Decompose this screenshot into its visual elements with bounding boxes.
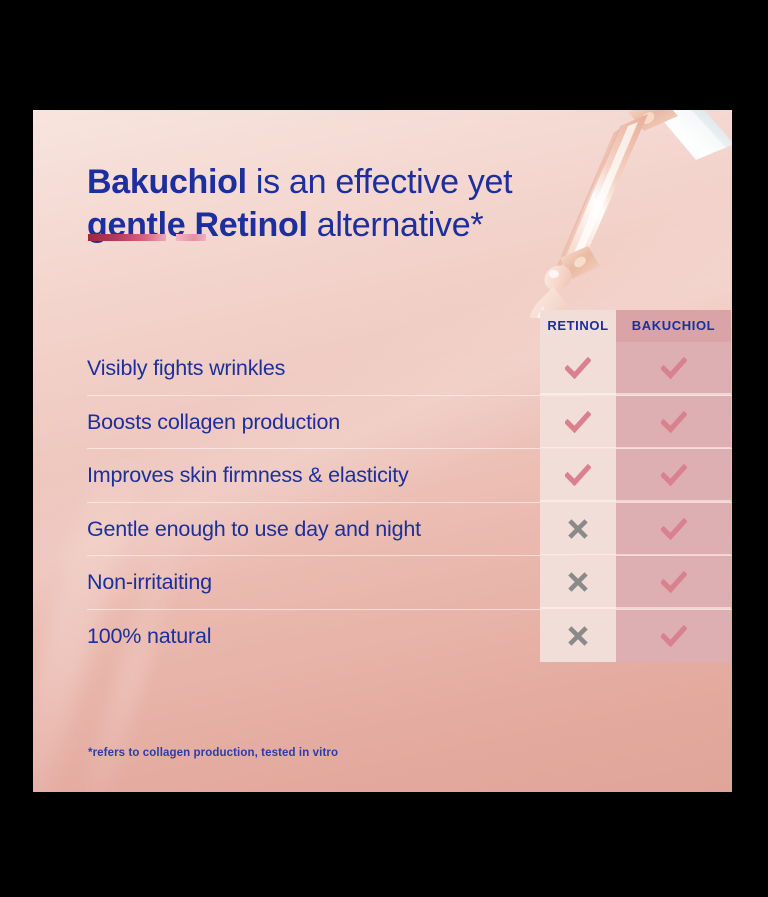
row-label: Gentle enough to use day and night bbox=[87, 503, 532, 556]
check-icon bbox=[661, 625, 687, 647]
table-row: Non-irritaiting bbox=[87, 556, 732, 610]
column-header-bakuchiol: BAKUCHIOL bbox=[616, 310, 731, 342]
row-label: Non-irritaiting bbox=[87, 556, 532, 609]
cell-bakuchiol bbox=[616, 503, 731, 556]
row-label: Boosts collagen production bbox=[87, 396, 532, 449]
comparison-table: RETINOL BAKUCHIOL Visibly fights wrinkle… bbox=[87, 310, 732, 662]
cell-retinol bbox=[540, 610, 616, 663]
cell-retinol bbox=[540, 342, 616, 395]
table-row: Boosts collagen production bbox=[87, 396, 732, 450]
cell-bakuchiol bbox=[616, 396, 731, 449]
underline-segment-primary bbox=[88, 234, 166, 241]
cell-bakuchiol bbox=[616, 342, 731, 395]
table-header-row: RETINOL BAKUCHIOL bbox=[87, 310, 732, 342]
check-icon bbox=[565, 411, 591, 433]
check-icon bbox=[661, 464, 687, 486]
check-icon bbox=[661, 357, 687, 379]
headline-tail: alternative* bbox=[308, 206, 484, 244]
check-icon bbox=[565, 357, 591, 379]
table-row: 100% natural bbox=[87, 610, 732, 663]
row-label: 100% natural bbox=[87, 610, 532, 663]
underline-segment-secondary bbox=[176, 234, 206, 241]
row-label: Visibly fights wrinkles bbox=[87, 342, 532, 395]
table-row: Improves skin firmness & elasticity bbox=[87, 449, 732, 503]
check-icon bbox=[661, 411, 687, 433]
check-icon bbox=[565, 464, 591, 486]
cross-icon bbox=[568, 572, 588, 592]
cell-retinol bbox=[540, 503, 616, 556]
comparison-card: Bakuchiol is an effective yet gentle Ret… bbox=[33, 110, 732, 792]
headline-mid: is an effective yet bbox=[247, 163, 513, 201]
headline-bakuchiol: Bakuchiol bbox=[87, 163, 247, 201]
table-row: Gentle enough to use day and night bbox=[87, 503, 732, 557]
cell-bakuchiol bbox=[616, 449, 731, 502]
table-row: Visibly fights wrinkles bbox=[87, 342, 732, 396]
check-icon bbox=[661, 518, 687, 540]
headline-retinol: Retinol bbox=[194, 206, 307, 244]
row-label: Improves skin firmness & elasticity bbox=[87, 449, 532, 502]
check-icon bbox=[661, 571, 687, 593]
column-header-retinol: RETINOL bbox=[540, 310, 616, 342]
table-body: Visibly fights wrinklesBoosts collagen p… bbox=[87, 342, 732, 662]
heading-underline-decor bbox=[88, 234, 206, 241]
cross-icon bbox=[568, 626, 588, 646]
cell-bakuchiol bbox=[616, 556, 731, 609]
cell-retinol bbox=[540, 449, 616, 502]
cell-retinol bbox=[540, 556, 616, 609]
cross-icon bbox=[568, 519, 588, 539]
cell-bakuchiol bbox=[616, 610, 731, 663]
footnote-text: *refers to collagen production, tested i… bbox=[88, 747, 338, 759]
screenshot-canvas: Bakuchiol is an effective yet gentle Ret… bbox=[0, 0, 768, 897]
cell-retinol bbox=[540, 396, 616, 449]
